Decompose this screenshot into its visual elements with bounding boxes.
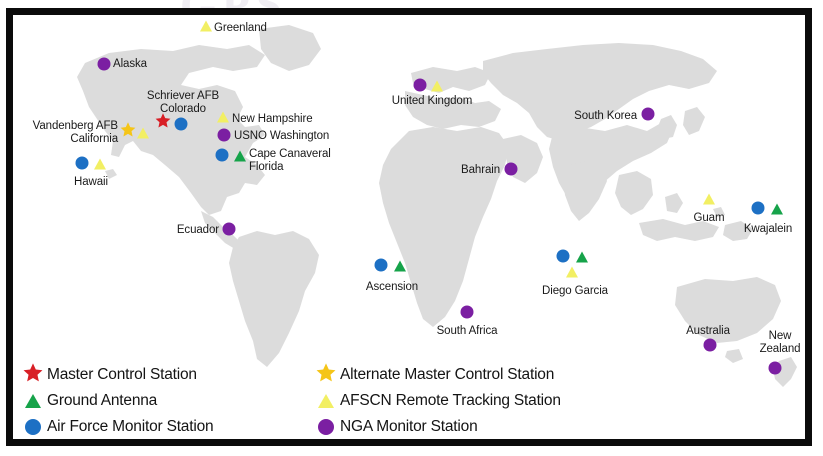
station-label-south-korea: South Korea [574,110,637,123]
legend-item-afscn-remote-tracking-station[interactable]: AFSCN Remote Tracking Station [315,388,561,414]
legend-column-right: Alternate Master Control StationAFSCN Re… [315,362,561,440]
station-marker-diego-garcia-afscn-remote-tracking-station[interactable] [566,267,578,278]
station-marker-hawaii-afscn-remote-tracking-station[interactable] [94,159,106,170]
station-marker-south-korea-nga-monitor-station[interactable] [642,108,655,121]
station-label-line: New Hampshire [232,113,313,126]
station-label-line: Bahrain [461,164,500,177]
triangle-icon [315,390,337,412]
station-label-new-zealand: NewZealand [760,330,801,355]
station-label-line: New [760,330,801,343]
station-label-kwajalein: Kwajalein [744,223,792,236]
station-label-bahrain: Bahrain [461,164,500,177]
station-marker-kwajalein-air-force-monitor-station[interactable] [752,202,765,215]
legend-item-label: Ground Antenna [47,392,157,410]
station-label-line: South Africa [437,325,498,338]
station-marker-guam-afscn-remote-tracking-station[interactable] [703,194,715,205]
legend-item-master-control-station[interactable]: Master Control Station [22,362,213,388]
station-marker-kwajalein-ground-antenna[interactable] [771,204,783,215]
legend-item-label: Air Force Monitor Station [47,418,213,436]
station-label-line: Ecuador [177,224,219,237]
station-marker-ascension-ground-antenna[interactable] [394,261,406,272]
station-label-usno-washington: USNO Washington [234,130,329,143]
station-marker-vandenberg-afb-california-alternate-master-control-station[interactable] [120,121,137,143]
station-label-diego-garcia: Diego Garcia [542,285,608,298]
station-marker-schriever-afb-colorado-air-force-monitor-station[interactable] [175,118,188,131]
triangle-icon [25,394,41,408]
station-marker-cape-canaveral-florida-ground-antenna[interactable] [234,151,246,162]
station-label-line: United Kingdom [392,95,472,108]
legend-item-label: AFSCN Remote Tracking Station [340,392,561,410]
station-marker-diego-garcia-air-force-monitor-station[interactable] [557,250,570,263]
station-label-line: Zealand [760,343,801,356]
station-label-south-africa: South Africa [437,325,498,338]
station-marker-greenland-afscn-remote-tracking-station[interactable] [200,21,212,32]
star-icon [316,362,337,388]
station-label-australia: Australia [686,325,730,338]
station-marker-bahrain-nga-monitor-station[interactable] [505,163,518,176]
station-marker-schriever-afb-colorado-master-control-station[interactable] [155,112,172,134]
station-label-line: Schriever AFB [147,90,219,103]
legend-column-left: Master Control StationGround AntennaAir … [22,362,213,440]
station-marker-usno-washington-nga-monitor-station[interactable] [218,129,231,142]
station-marker-alaska-nga-monitor-station[interactable] [98,58,111,71]
station-marker-united-kingdom-nga-monitor-station[interactable] [414,79,427,92]
station-label-line: Colorado [147,103,219,116]
station-label-line: Hawaii [74,176,108,189]
legend-item-alternate-master-control-station[interactable]: Alternate Master Control Station [315,362,561,388]
station-marker-new-zealand-nga-monitor-station[interactable] [769,362,782,375]
legend-item-label: Alternate Master Control Station [340,366,554,384]
station-label-vandenberg-afb-california: Vandenberg AFBCalifornia [33,120,118,145]
map-legend: Master Control StationGround AntennaAir … [22,362,722,440]
station-label-new-hampshire: New Hampshire [232,113,313,126]
station-label-line: Cape Canaveral [249,148,331,161]
legend-item-nga-monitor-station[interactable]: NGA Monitor Station [315,414,561,440]
station-marker-diego-garcia-ground-antenna[interactable] [576,252,588,263]
station-label-line: Ascension [366,281,418,294]
station-marker-united-kingdom-afscn-remote-tracking-station[interactable] [431,81,443,92]
station-marker-south-africa-nga-monitor-station[interactable] [461,306,474,319]
station-marker-ecuador-nga-monitor-station[interactable] [223,223,236,236]
station-marker-australia-nga-monitor-station[interactable] [704,339,717,352]
circle-icon [25,419,41,435]
circle-icon [318,419,334,435]
station-label-line: USNO Washington [234,130,329,143]
station-label-united-kingdom: United Kingdom [392,95,472,108]
station-marker-hawaii-air-force-monitor-station[interactable] [76,157,89,170]
star-icon [23,362,44,388]
triangle-icon [318,394,334,408]
triangle-icon [22,390,44,412]
station-label-line: Florida [249,161,331,174]
circle-icon [315,416,337,438]
station-label-line: Australia [686,325,730,338]
station-label-cape-canaveral-florida: Cape CanaveralFlorida [249,148,331,173]
station-label-line: Alaska [113,58,147,71]
star-icon [315,364,337,386]
station-label-ecuador: Ecuador [177,224,219,237]
station-label-line: Kwajalein [744,223,792,236]
station-label-ascension: Ascension [366,281,418,294]
station-label-line: Guam [694,212,725,225]
station-label-alaska: Alaska [113,58,147,71]
station-marker-new-hampshire-afscn-remote-tracking-station[interactable] [217,112,229,123]
station-label-line: California [33,133,118,146]
station-label-hawaii: Hawaii [74,176,108,189]
station-label-line: Vandenberg AFB [33,120,118,133]
station-marker-vandenberg-afb-california-afscn-remote-tracking-station[interactable] [137,128,149,139]
legend-item-ground-antenna[interactable]: Ground Antenna [22,388,213,414]
station-label-line: Greenland [214,22,267,35]
circle-icon [22,416,44,438]
legend-item-air-force-monitor-station[interactable]: Air Force Monitor Station [22,414,213,440]
legend-item-label: Master Control Station [47,366,197,384]
station-marker-cape-canaveral-florida-air-force-monitor-station[interactable] [216,149,229,162]
station-label-guam: Guam [694,212,725,225]
gps-station-map-figure: GPS [0,0,823,456]
station-label-line: Diego Garcia [542,285,608,298]
station-label-line: South Korea [574,110,637,123]
legend-item-label: NGA Monitor Station [340,418,478,436]
station-marker-ascension-air-force-monitor-station[interactable] [375,259,388,272]
station-label-schriever-afb-colorado: Schriever AFBColorado [147,90,219,115]
station-label-greenland: Greenland [214,22,267,35]
star-icon [22,364,44,386]
